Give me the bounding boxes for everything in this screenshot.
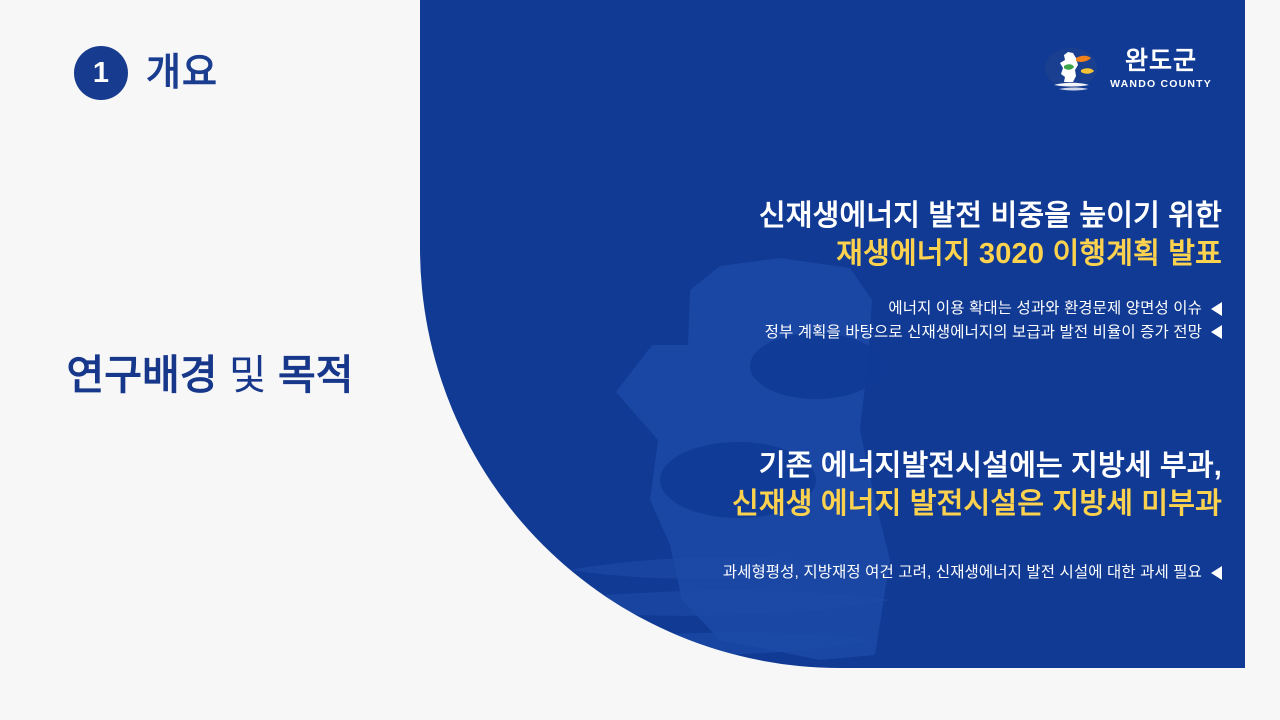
headline-1-line-primary: 신재생에너지 발전 비중을 높이기 위한	[759, 198, 1222, 236]
bullet-text: 정부 계획을 바탕으로 신재생에너지의 보급과 발전 비율이 증가 전망	[765, 321, 1202, 345]
page-title: 개요	[146, 54, 218, 92]
slide-root: 1 개요 연구배경 및 목적	[0, 0, 1280, 720]
logo-name-ko: 완도군	[1125, 49, 1197, 74]
headline-1: 신재생에너지 발전 비중을 높이기 위한 재생에너지 3020 이행계획 발표	[759, 198, 1222, 273]
triangle-left-icon	[1211, 325, 1222, 339]
section-number-badge: 1	[74, 46, 128, 100]
bullet-text: 과세형평성, 지방재정 여건 고려, 신재생에너지 발전 시설에 대한 과세 필…	[723, 561, 1202, 585]
content-block-1-bullets: 에너지 이용 확대는 성과와 환경문제 양면성 이슈 정부 계획을 바탕으로 신…	[765, 297, 1222, 344]
wando-county-logo: 완도군 WANDO COUNTY	[1042, 45, 1212, 93]
headline-2: 기존 에너지발전시설에는 지방세 부과, 신재생 에너지 발전시설은 지방세 미…	[732, 448, 1222, 523]
slide-subject-title: 연구배경 및 목적	[0, 352, 420, 399]
section-header: 1 개요	[74, 46, 218, 100]
bullet-item: 정부 계획을 바탕으로 신재생에너지의 보급과 발전 비율이 증가 전망	[765, 321, 1222, 345]
content-block-1-headline: 신재생에너지 발전 비중을 높이기 위한 재생에너지 3020 이행계획 발표	[759, 198, 1222, 273]
wando-island-logo-icon	[1042, 45, 1100, 93]
slide-subject-part-1: 연구배경	[67, 352, 218, 398]
bullet-item: 과세형평성, 지방재정 여건 고려, 신재생에너지 발전 시설에 대한 과세 필…	[723, 561, 1222, 585]
triangle-left-icon	[1211, 302, 1222, 316]
headline-2-line-primary: 기존 에너지발전시설에는 지방세 부과,	[732, 448, 1222, 486]
content-panel: 완도군 WANDO COUNTY 신재생에너지 발전 비중을 높이기 위한 재생…	[420, 0, 1245, 668]
slide-subject-part-2: 목적	[278, 352, 353, 398]
content-block-2-headline: 기존 에너지발전시설에는 지방세 부과, 신재생 에너지 발전시설은 지방세 미…	[732, 448, 1222, 523]
logo-wordmark: 완도군 WANDO COUNTY	[1110, 49, 1212, 90]
bullet-item: 에너지 이용 확대는 성과와 환경문제 양면성 이슈	[765, 297, 1222, 321]
triangle-left-icon	[1211, 566, 1222, 580]
logo-name-en: WANDO COUNTY	[1110, 79, 1212, 90]
content-block-2-bullets: 과세형평성, 지방재정 여건 고려, 신재생에너지 발전 시설에 대한 과세 필…	[723, 561, 1222, 585]
slide-subject-conjunction: 및	[229, 352, 267, 398]
headline-2-line-accent: 신재생 에너지 발전시설은 지방세 미부과	[732, 486, 1222, 524]
headline-1-line-accent: 재생에너지 3020 이행계획 발표	[759, 236, 1222, 274]
bullet-text: 에너지 이용 확대는 성과와 환경문제 양면성 이슈	[888, 297, 1202, 321]
